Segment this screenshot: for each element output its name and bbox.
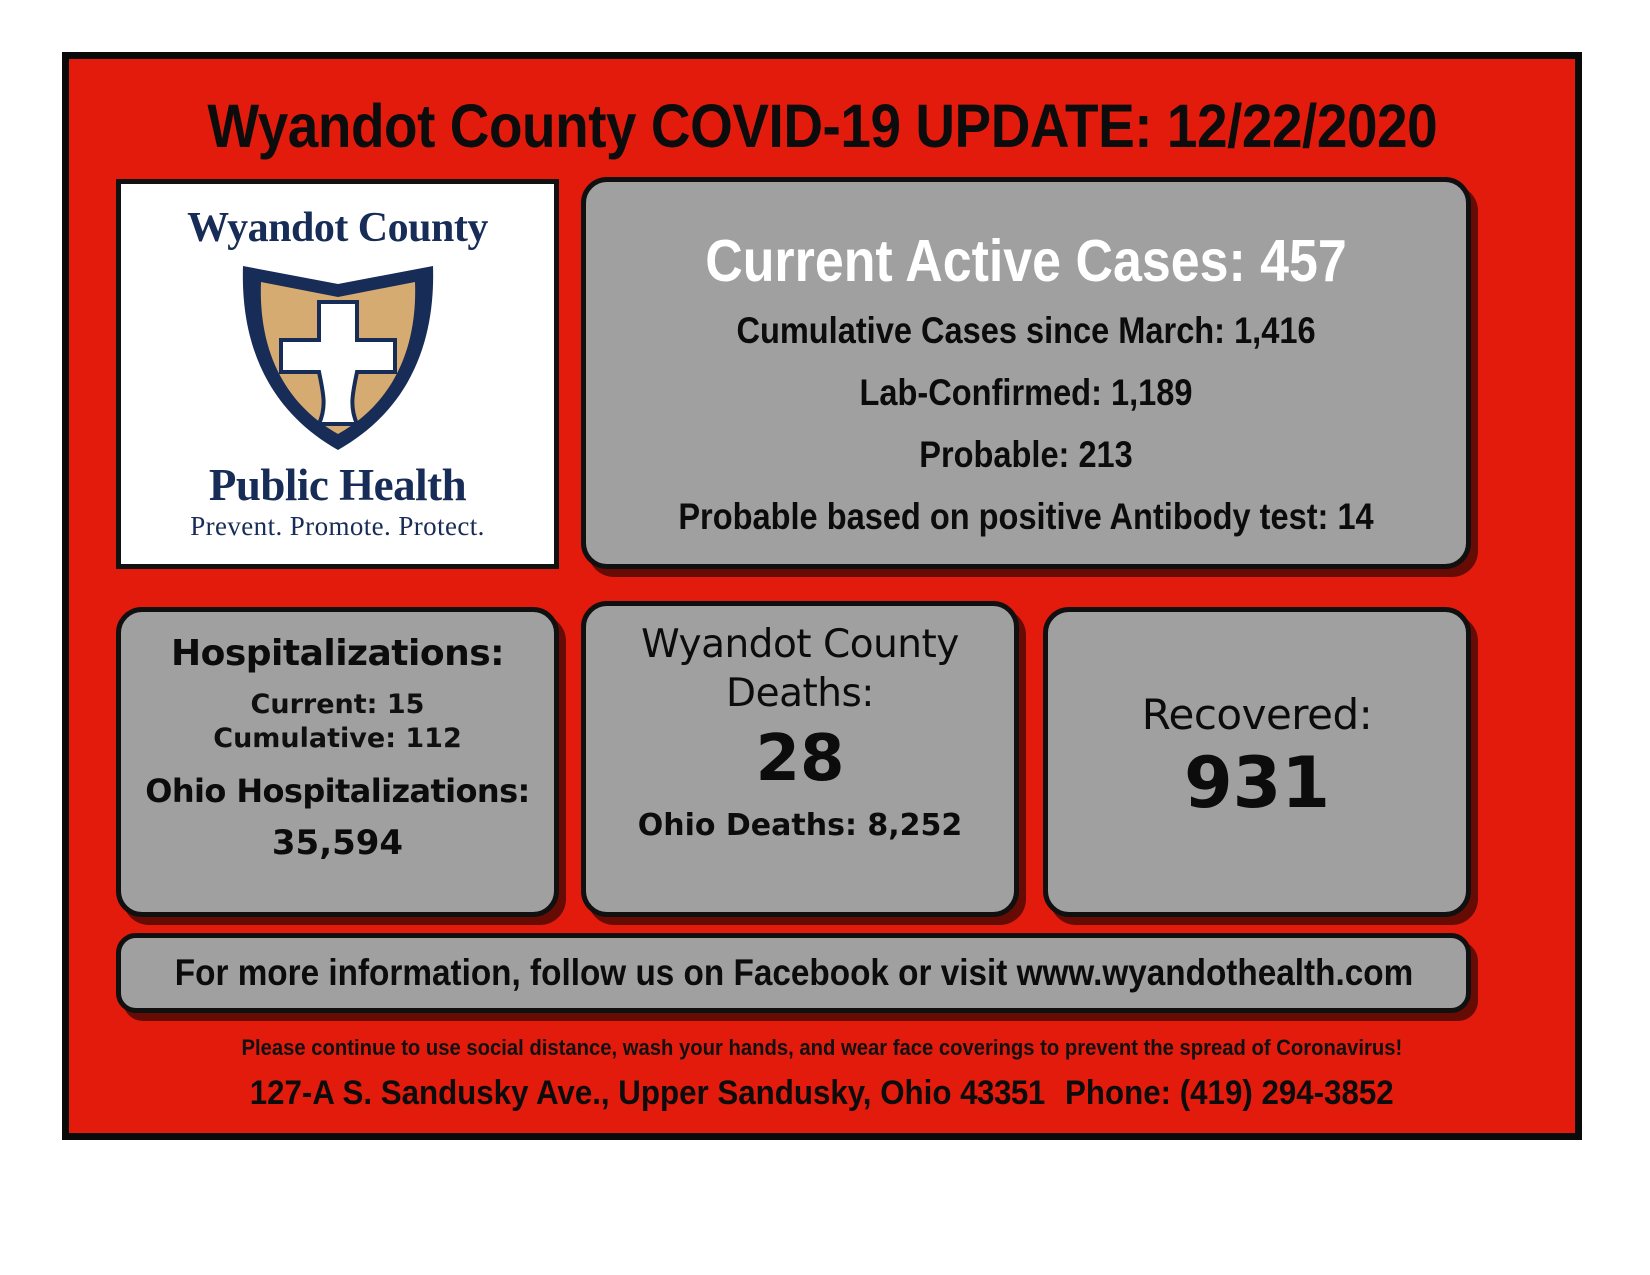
agency-logo-card: Wyandot County Public Health Prevent. Pr… bbox=[116, 179, 559, 569]
deaths-value: 28 bbox=[586, 722, 1014, 796]
address-prefix: 127-A S. Sandusky Ave., Upper Sandusky, … bbox=[250, 1074, 960, 1112]
info-bar-text: For more information, follow us on Faceb… bbox=[174, 952, 1412, 994]
ohio-deaths-line: Ohio Deaths: 8,252 bbox=[586, 806, 1014, 846]
hospitalizations-current: Current: 15 bbox=[121, 688, 554, 722]
recovered-title: Recovered: bbox=[1048, 688, 1466, 742]
precaution-note-text: Please continue to use social distance, … bbox=[242, 1035, 1403, 1061]
info-bar-panel[interactable]: For more information, follow us on Faceb… bbox=[116, 933, 1471, 1013]
active-cases-headline: Current Active Cases: 457 bbox=[662, 222, 1391, 300]
logo-bottom-line: Public Health bbox=[209, 462, 466, 508]
cumulative-cases-line: Cumulative Cases since March: 1,416 bbox=[662, 300, 1391, 362]
deaths-title-line2: Deaths: bbox=[586, 669, 1014, 718]
logo-top-line: Wyandot County bbox=[187, 206, 488, 250]
logo-tagline: Prevent. Promote. Protect. bbox=[190, 511, 485, 541]
ohio-hospitalizations-label: Ohio Hospitalizations: bbox=[121, 770, 554, 812]
hospitalizations-cumulative: Cumulative: 112 bbox=[121, 722, 554, 756]
recovered-panel: Recovered: 931 bbox=[1043, 607, 1471, 917]
recovered-value: 931 bbox=[1048, 742, 1466, 824]
active-cases-panel: Current Active Cases: 457 Cumulative Cas… bbox=[581, 177, 1471, 569]
phone-text: Phone: (419) 294-3852 bbox=[1065, 1074, 1394, 1112]
address-zip: 43351 bbox=[960, 1074, 1045, 1112]
ohio-hospitalizations-value: 35,594 bbox=[121, 820, 554, 866]
shield-cross-icon bbox=[231, 254, 445, 460]
deaths-title-line1: Wyandot County bbox=[586, 620, 1014, 669]
probable-antibody-line: Probable based on positive Antibody test… bbox=[662, 486, 1391, 548]
hospitalizations-panel: Hospitalizations: Current: 15 Cumulative… bbox=[116, 607, 559, 917]
deaths-panel: Wyandot County Deaths: 28 Ohio Deaths: 8… bbox=[581, 601, 1019, 917]
address-line-text: 127-A S. Sandusky Ave., Upper Sandusky, … bbox=[250, 1073, 1394, 1113]
address-line: 127-A S. Sandusky Ave., Upper Sandusky, … bbox=[69, 1073, 1575, 1113]
page-title-text: Wyandot County COVID-19 UPDATE: 12/22/20… bbox=[207, 95, 1437, 157]
page-title: Wyandot County COVID-19 UPDATE: 12/22/20… bbox=[69, 95, 1575, 157]
lab-confirmed-line: Lab-Confirmed: 1,189 bbox=[662, 362, 1391, 424]
precaution-note: Please continue to use social distance, … bbox=[69, 1035, 1575, 1061]
hospitalizations-title: Hospitalizations: bbox=[121, 630, 554, 678]
poster-frame: Wyandot County COVID-19 UPDATE: 12/22/20… bbox=[62, 52, 1582, 1140]
probable-line: Probable: 213 bbox=[662, 424, 1391, 486]
